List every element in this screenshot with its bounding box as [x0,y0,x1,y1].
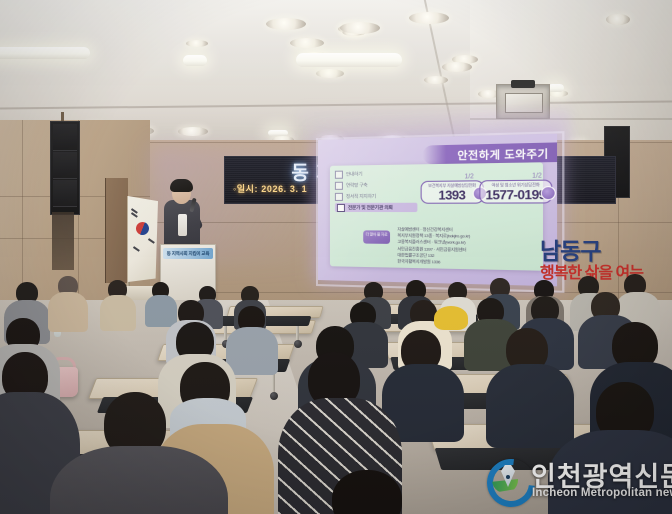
slide-resource-badge-label: 더 알아 볼 자료 [363,230,390,238]
strip-light [183,55,207,66]
strip-light [0,47,90,59]
speaker-shadow [52,212,74,270]
downlight [424,76,448,84]
slide-bullet: 한국자활복지개발원 1336 [397,258,538,267]
slide-checklist: 안내하기 연락망 구축 정서적 지지하기 전문가 및 전문기관 의뢰 [335,169,417,215]
audience-torso [486,364,574,448]
audience-torso [100,295,136,331]
speaker-segment [53,124,77,151]
hotline-number: 1577-0199 [485,188,547,202]
podium-banner-label: 동 지역사회 지킴이 교육 [163,248,213,259]
newspaper-logo-icon [487,459,523,495]
wall-seam [22,120,23,300]
slide-bullet-list: 자살예방센터 · 정신건강복지센터 복지부지원정책 13종 · 복지로(bokj… [397,226,538,267]
podium-banner: 동 지역사회 지킴이 교육 [163,248,213,259]
desk-leg [272,372,275,394]
newspaper-watermark: 인천광역신문 Incheon Metropolitan newspaper [487,455,667,505]
audience-hood [434,306,468,330]
hotline-tick: 1/2 [465,174,474,180]
checkbox-icon [335,170,343,178]
slide-header-bar: 안전하게 도와주기 [423,142,557,164]
downlight [442,62,472,72]
presenter-shirt [178,214,187,236]
speaker-segment [53,180,77,207]
downlight [340,22,380,34]
slide-resource-badge: 더 알아 볼 자료 [363,230,390,244]
audience-torso [48,292,88,332]
strip-light [548,84,564,92]
presenter-hair [170,179,193,192]
slide-body: 안내하기 연락망 구축 정서적 지지하기 전문가 및 전문기관 의뢰 1/2 보… [330,162,543,270]
downlight [178,127,208,136]
line-array-speaker [50,121,80,215]
strip-light [268,130,288,136]
hotline-badge-icon [541,186,556,200]
checklist-label: 연락망 구축 [346,182,368,188]
checkbox-icon [335,192,343,200]
downlight [266,18,306,30]
downlight [186,40,208,47]
downlight [290,38,324,48]
checklist-item: 안내하기 [335,169,417,179]
downlight [316,69,344,78]
hotline-box-1: 1/2 보건복지부 자살예방상담전화 1393 [421,180,484,204]
checklist-item: 연락망 구축 [335,180,417,190]
checkbox-checked-icon [337,203,345,211]
desk-caster [270,392,278,400]
desk-caster [294,340,302,348]
strip-light [296,53,402,67]
checkbox-icon [335,181,343,189]
projector-mount [511,80,535,88]
audience-torso [226,327,278,375]
checklist-label: 전문가 및 전문기관 의뢰 [348,204,393,210]
pen-nib-vent-icon [506,475,510,479]
hotline-box-2: 1/2 여성 및 청소년 위기상담전화 1577-0199 [479,180,552,204]
speaker-segment [53,152,77,179]
checklist-label: 안내하기 [346,171,362,177]
news-photograph: 동 지역사회 ○○○○ 지킴이' 교육 ◦일시: 2026. 3. 1 안전하게… [0,0,672,514]
slide-header-title: 안전하게 도와주기 [457,145,548,163]
checklist-label: 정서적 지지하기 [346,193,376,199]
side-door [105,178,128,283]
checklist-item-active: 전문가 및 전문기관 의뢰 [335,203,417,212]
projection-screen: 안전하게 도와주기 안내하기 연락망 구축 정서적 지지하기 전문가 [318,134,557,287]
downlight [606,14,630,25]
audience-torso [145,295,177,327]
hotline-number: 1393 [426,189,478,203]
watermark-english-name: Incheon Metropolitan newspaper [532,487,672,499]
downlight [409,12,449,24]
checklist-item: 정서적 지지하기 [335,191,417,201]
hotline-tick: 1/2 [532,173,542,180]
